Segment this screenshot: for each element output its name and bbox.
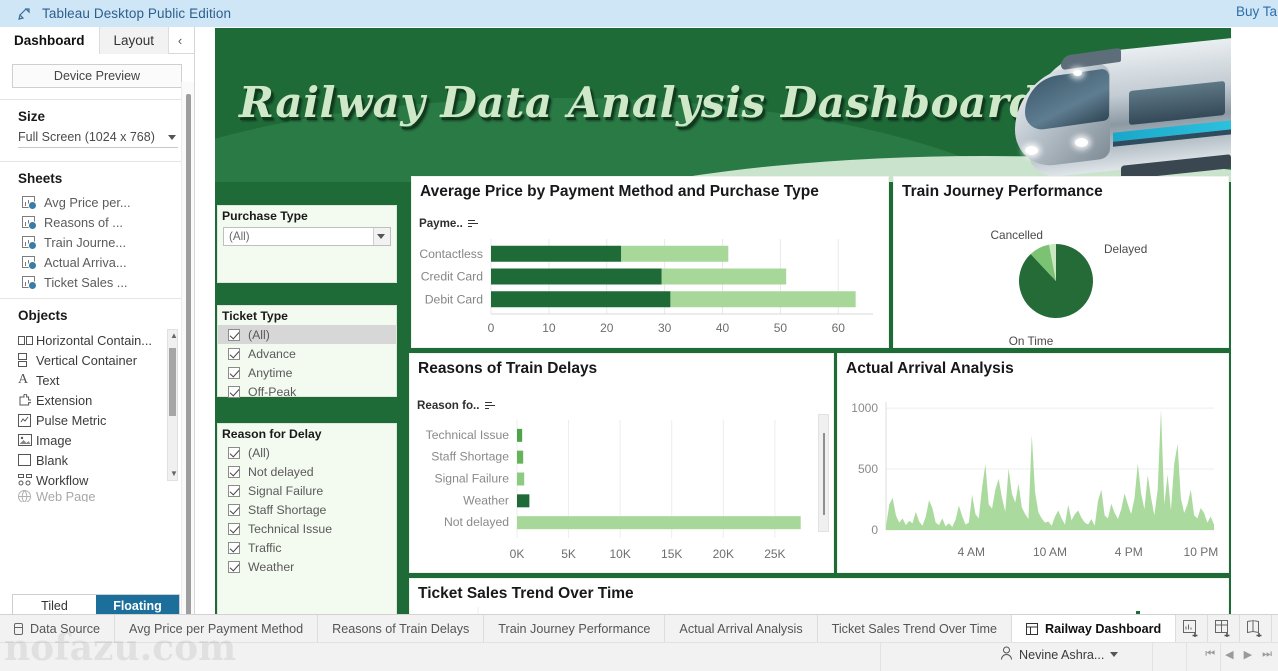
chevron-down-icon (168, 135, 176, 140)
tab-avg-price-per-payment-method[interactable]: Avg Price per Payment Method (115, 615, 318, 642)
delay-option-all[interactable]: (All) (218, 443, 396, 462)
worksheet-icon (22, 196, 35, 208)
tableau-window: Tableau Desktop Public Edition Buy Ta Da… (0, 0, 1278, 671)
object-label: Horizontal Contain... (36, 333, 152, 348)
sheet-item[interactable]: Actual Arriva... (0, 252, 194, 272)
chevron-left-icon[interactable]: ‹ (170, 27, 190, 54)
filter-title: Reason for Delay (218, 424, 396, 443)
train-image (1001, 34, 1231, 182)
app-title: Tableau Desktop Public Edition (42, 6, 231, 21)
field-label: Reason fo.. (417, 399, 480, 412)
new-worksheet-button[interactable] (1176, 615, 1208, 642)
field-label: Payme.. (419, 217, 463, 230)
checkbox-checked-icon[interactable] (228, 367, 240, 379)
option-label: Advance (248, 347, 296, 361)
pin-icon[interactable] (18, 6, 32, 22)
reason-for-delay-filter: Reason for Delay (All) Not delayed Signa… (217, 423, 397, 614)
object-label: Image (36, 433, 72, 448)
sort-icon[interactable] (485, 401, 496, 411)
object-item-image[interactable]: Image (0, 430, 194, 450)
delay-option-technical-issue[interactable]: Technical Issue (218, 519, 396, 538)
ticket-type-option-offpeak[interactable]: Off-Peak (218, 382, 396, 401)
svg-text:0K: 0K (510, 547, 525, 561)
svg-text:Delayed: Delayed (1104, 242, 1147, 256)
delay-option-not-delayed[interactable]: Not delayed (218, 462, 396, 481)
object-label: Workflow (36, 473, 88, 488)
sheet-item[interactable]: Reasons of ... (0, 212, 194, 232)
svg-text:4 AM: 4 AM (958, 545, 985, 559)
reasons-of-train-delays-chart: Reasons of Train Delays Reason fo.. 0K5K… (409, 353, 834, 573)
chart-title: Reasons of Train Delays (410, 354, 833, 378)
image-icon (18, 434, 36, 446)
option-label: (All) (248, 328, 270, 342)
object-item-pulse-metric[interactable]: Pulse Metric (0, 410, 194, 430)
svg-text:Weather: Weather (463, 493, 509, 507)
scroll-down-icon[interactable]: ▼ (170, 470, 178, 478)
purchase-type-value: (All) (229, 230, 250, 243)
sheet-label: Ticket Sales ... (44, 275, 127, 290)
payment-field-header[interactable]: Payme.. (419, 217, 479, 230)
svg-text:40: 40 (716, 321, 730, 335)
size-value: Full Screen (1024 x 768) (18, 130, 155, 144)
option-label: Off-Peak (248, 385, 296, 399)
tab-reasons-of-train-delays[interactable]: Reasons of Train Delays (318, 615, 484, 642)
sheet-label: Actual Arriva... (44, 255, 127, 270)
option-label: Anytime (248, 366, 292, 380)
worksheet-icon (22, 256, 35, 268)
checkbox-checked-icon[interactable] (228, 504, 240, 516)
filter-title: Purchase Type (218, 206, 396, 225)
option-label: Signal Failure (248, 484, 323, 498)
sheets-list: Avg Price per... Reasons of ... Train Jo… (0, 190, 194, 299)
new-story-button[interactable] (1240, 615, 1272, 642)
svg-text:4 PM: 4 PM (1115, 545, 1143, 559)
object-item-workflow[interactable]: Workflow (0, 470, 194, 490)
delay-option-signal-failure[interactable]: Signal Failure (218, 481, 396, 500)
tab-layout[interactable]: Layout (100, 27, 170, 54)
sort-icon[interactable] (468, 219, 479, 229)
ticket-type-option-all[interactable]: (All) (218, 325, 396, 344)
size-dropdown[interactable]: Full Screen (1024 x 768) (18, 128, 178, 148)
svg-text:60: 60 (832, 321, 846, 335)
train-journey-performance-chart: Train Journey Performance DelayedCancell… (893, 176, 1229, 348)
objects-list: Horizontal Contain... Vertical Container… (0, 327, 194, 502)
object-label: Web Page (36, 490, 96, 502)
svg-text:20K: 20K (713, 547, 734, 561)
object-label: Text (36, 373, 59, 388)
svg-text:0: 0 (488, 321, 495, 335)
checkbox-checked-icon[interactable] (228, 447, 240, 459)
text-icon: A (18, 372, 36, 388)
ticket-type-option-advance[interactable]: Advance (218, 344, 396, 363)
svg-text:20: 20 (600, 321, 614, 335)
svg-text:Cancelled: Cancelled (991, 228, 1043, 242)
option-label: Not delayed (248, 465, 314, 479)
svg-text:50: 50 (774, 321, 788, 335)
workflow-icon (18, 474, 36, 486)
scrollbar-thumb[interactable] (823, 433, 825, 515)
left-panel: Dashboard Layout ‹ Device Preview Size F… (0, 27, 195, 614)
reasons-scrollbar[interactable] (818, 414, 829, 532)
pulse-metric-icon (18, 414, 36, 427)
tab-actual-arrival-analysis[interactable]: Actual Arrival Analysis (665, 615, 817, 642)
delay-option-traffic[interactable]: Traffic (218, 538, 396, 557)
buy-tableau-link[interactable]: Buy Ta (1236, 4, 1278, 19)
titlebar: Tableau Desktop Public Edition Buy Ta (0, 0, 1278, 27)
checkbox-checked-icon[interactable] (228, 386, 240, 398)
sheet-item[interactable]: Train Journe... (0, 232, 194, 252)
blank-icon (18, 454, 36, 466)
scrollbar-thumb[interactable] (186, 94, 191, 639)
data-source-icon (14, 623, 23, 635)
dashboard-banner: Railway Data Analysis Dashboard (215, 28, 1231, 182)
svg-text:Not delayed: Not delayed (444, 515, 509, 529)
panel-tabstrip: Dashboard Layout ‹ (0, 27, 194, 54)
object-item-web-page[interactable]: Web Page (0, 490, 194, 502)
sheet-item[interactable]: Avg Price per... (0, 192, 194, 212)
scroll-up-icon[interactable]: ▲ (170, 332, 178, 340)
sheet-item[interactable]: Ticket Sales ... (0, 272, 194, 292)
avg-price-chart: Average Price by Payment Method and Purc… (411, 176, 889, 348)
purchase-type-filter: Purchase Type (All) (217, 205, 397, 283)
chevron-down-icon[interactable] (1110, 652, 1118, 657)
svg-text:Signal Failure: Signal Failure (434, 472, 509, 486)
new-story-icon (1247, 620, 1264, 637)
objects-scrollbar[interactable]: ▲ ▼ (167, 329, 178, 481)
sheets-heading: Sheets (0, 162, 194, 190)
reasons-plot[interactable]: 0K5K10K15K20K25KTechnical IssueStaff Sho… (417, 416, 817, 566)
checkbox-checked-icon[interactable] (228, 542, 240, 554)
chart-title: Train Journey Performance (894, 177, 1228, 201)
svg-text:10K: 10K (609, 547, 630, 561)
object-label: Pulse Metric (36, 413, 106, 428)
web-page-icon (18, 490, 36, 502)
svg-text:Contactless: Contactless (419, 247, 483, 261)
option-label: Weather (248, 560, 294, 574)
svg-text:10: 10 (542, 321, 556, 335)
option-label: Staff Shortage (248, 503, 326, 517)
svg-text:On Time: On Time (1009, 334, 1054, 345)
svg-text:Staff Shortage: Staff Shortage (431, 450, 509, 464)
svg-text:Debit Card: Debit Card (425, 292, 483, 306)
svg-text:Technical Issue: Technical Issue (426, 428, 510, 442)
tab-ticket-sales-trend-over-time[interactable]: Ticket Sales Trend Over Time (818, 615, 1012, 642)
object-label: Extension (36, 393, 92, 408)
object-item-vertical-container[interactable]: Vertical Container (0, 350, 194, 370)
worksheet-icon (22, 276, 35, 288)
size-heading: Size (0, 100, 194, 128)
checkbox-checked-icon[interactable] (228, 561, 240, 573)
user-name: Nevine Ashra... (1019, 648, 1104, 662)
bottom-bar: Data Source Avg Price per Payment Method… (0, 614, 1278, 671)
sheet-tabs: Data Source Avg Price per Payment Method… (0, 615, 1278, 642)
svg-text:500: 500 (858, 462, 878, 476)
reason-field-header[interactable]: Reason fo.. (417, 399, 496, 412)
tab-label: Data Source (30, 622, 100, 636)
worksheet-icon (22, 216, 35, 228)
new-dashboard-button[interactable] (1208, 615, 1240, 642)
svg-text:0: 0 (871, 523, 878, 537)
new-dashboard-icon (1215, 620, 1232, 637)
nav-buttons: ⏮ ◀ ▶ ⏭ (1205, 648, 1272, 661)
last-sheet-button[interactable]: ⏭ (1262, 648, 1272, 661)
tab-data-source[interactable]: Data Source (0, 615, 115, 642)
ticket-sales-trend-chart: Ticket Sales Trend Over Time (409, 578, 1229, 614)
purchase-type-dropdown[interactable]: (All) (223, 227, 391, 246)
tab-train-journey-performance[interactable]: Train Journey Performance (484, 615, 665, 642)
delay-option-weather[interactable]: Weather (218, 557, 396, 576)
sheet-label: Reasons of ... (44, 215, 123, 230)
actual-arrival-analysis-chart: Actual Arrival Analysis 050010004 AM10 A… (837, 353, 1229, 573)
svg-text:15K: 15K (661, 547, 682, 561)
svg-text:1000: 1000 (851, 401, 878, 415)
svg-text:30: 30 (658, 321, 672, 335)
user-menu[interactable]: Nevine Ashra... (1000, 646, 1120, 663)
object-item-horizontal-container[interactable]: Horizontal Contain... (0, 330, 194, 350)
checkbox-checked-icon[interactable] (228, 466, 240, 478)
ticket-type-option-anytime[interactable]: Anytime (218, 363, 396, 382)
checkbox-checked-icon[interactable] (228, 523, 240, 535)
option-label: Traffic (248, 541, 281, 555)
first-sheet-button[interactable]: ⏮ (1205, 648, 1215, 661)
chevron-down-icon[interactable] (373, 228, 390, 245)
checkbox-checked-icon[interactable] (228, 329, 240, 341)
dashboard-grid-icon (1026, 623, 1038, 635)
previous-sheet-button[interactable]: ◀ (1225, 648, 1233, 661)
dashboard-canvas: Railway Data Analysis Dashboard Purchase… (215, 28, 1231, 614)
next-sheet-button[interactable]: ▶ (1244, 648, 1252, 661)
object-label: Vertical Container (36, 353, 137, 368)
chart-title: Actual Arrival Analysis (838, 354, 1228, 378)
chart-title: Average Price by Payment Method and Purc… (412, 177, 888, 201)
new-sheet-buttons (1176, 615, 1272, 642)
sheet-label: Train Journe... (44, 235, 126, 250)
panel-scrollbar[interactable] (181, 82, 194, 640)
tab-railway-dashboard[interactable]: Railway Dashboard (1012, 615, 1176, 642)
tab-label: Railway Dashboard (1045, 622, 1161, 636)
option-label: (All) (248, 446, 270, 460)
object-item-blank[interactable]: Blank (0, 450, 194, 470)
pie-plot[interactable]: DelayedCancelledOn Time (894, 205, 1230, 345)
extension-icon (18, 394, 36, 407)
device-preview-button[interactable]: Device Preview (12, 64, 182, 88)
svg-text:Credit Card: Credit Card (421, 270, 483, 284)
status-row: Nevine Ashra... ⏮ ◀ ▶ ⏭ nofazu.com (0, 642, 1278, 671)
chart-title: Ticket Sales Trend Over Time (410, 579, 1228, 603)
object-item-extension[interactable]: Extension (0, 390, 194, 410)
svg-text:5K: 5K (561, 547, 576, 561)
sheet-label: Avg Price per... (44, 195, 131, 210)
objects-heading: Objects (0, 299, 194, 327)
person-icon (1000, 646, 1013, 663)
scrollbar-thumb[interactable] (169, 348, 176, 416)
option-label: Technical Issue (248, 522, 332, 536)
worksheet-icon (22, 236, 35, 248)
ticket-type-filter: Ticket Type (All) Advance Anytime Off-Pe… (217, 305, 397, 397)
svg-text:25K: 25K (764, 547, 785, 561)
vertical-container-icon (18, 353, 36, 367)
checkbox-checked-icon[interactable] (228, 485, 240, 497)
object-label: Blank (36, 453, 68, 468)
new-worksheet-icon (1183, 620, 1200, 637)
panel-body: Device Preview Size Full Screen (1024 x … (0, 54, 194, 614)
size-section: Full Screen (1024 x 768) (0, 128, 194, 162)
svg-text:10 AM: 10 AM (1033, 545, 1067, 559)
dashboard-title: Railway Data Analysis Dashboard (239, 78, 1039, 127)
arrival-plot[interactable]: 050010004 AM10 AM4 PM10 PM (844, 396, 1224, 566)
filter-title: Ticket Type (218, 306, 396, 325)
svg-text:10 PM: 10 PM (1184, 545, 1219, 559)
tab-dashboard[interactable]: Dashboard (0, 27, 100, 54)
checkbox-checked-icon[interactable] (228, 348, 240, 360)
trend-plot[interactable] (420, 607, 1220, 614)
avg-price-plot[interactable]: 0102030405060ContactlessCredit CardDebit… (419, 235, 881, 340)
horizontal-container-icon (18, 336, 36, 345)
device-preview-section: Device Preview (0, 54, 194, 100)
delay-option-staff-shortage[interactable]: Staff Shortage (218, 500, 396, 519)
object-item-text[interactable]: A Text (0, 370, 194, 390)
